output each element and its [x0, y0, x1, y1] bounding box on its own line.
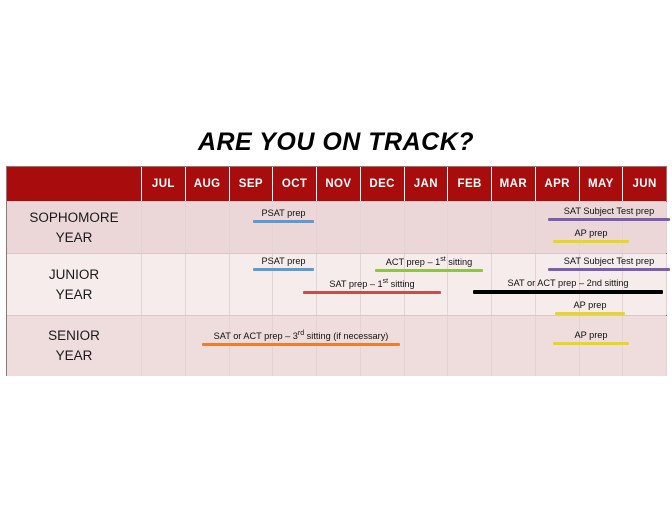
column-separator	[579, 316, 580, 376]
timeline-bar-line	[548, 218, 670, 221]
table-row-junior: JUNIOR YEAR PSAT prepACT prep – 1st sitt…	[7, 253, 666, 315]
year-label-sophomore: SOPHOMORE YEAR	[7, 202, 141, 253]
timeline-bar-label: AP prep	[573, 300, 606, 310]
column-separator	[491, 316, 492, 376]
timeline-bar: SAT prep – 1st sitting	[303, 278, 441, 294]
month-header-sep: SEP	[229, 167, 273, 201]
year-label-line1: JUNIOR	[49, 265, 99, 285]
page-root: ARE YOU ON TRACK? JULAUGSEPOCTNOVDECJANF…	[0, 0, 672, 510]
column-separator	[535, 316, 536, 376]
timeline-bar-label: PSAT prep	[261, 208, 305, 218]
timeline-bar-line	[553, 342, 629, 345]
timeline-bar: PSAT prep	[253, 256, 314, 271]
timeline-bar: AP prep	[553, 330, 629, 345]
month-header-aug: AUG	[185, 167, 229, 201]
timeline-bar: AP prep	[555, 300, 625, 315]
column-separator	[622, 316, 623, 376]
column-separator	[404, 316, 405, 376]
column-separator	[447, 202, 448, 253]
column-separator	[141, 316, 142, 376]
timeline-bar-line	[253, 268, 314, 271]
column-separator	[185, 202, 186, 253]
timeline-bar-label: SAT prep – 1st sitting	[329, 278, 414, 289]
timeline-bar: SAT or ACT prep – 3rd sitting (if necess…	[202, 330, 400, 346]
year-label-line2: YEAR	[56, 228, 93, 248]
year-label-senior: SENIOR YEAR	[7, 316, 141, 376]
month-header-feb: FEB	[447, 167, 491, 201]
timeline-bar-label: PSAT prep	[261, 256, 305, 266]
timeline-bar-label: AP prep	[574, 228, 607, 238]
timeline-bar: SAT Subject Test prep	[548, 256, 670, 271]
timeline-bar: SAT or ACT prep – 2nd sitting	[473, 278, 663, 294]
month-header-apr: APR	[535, 167, 579, 201]
column-separator	[141, 202, 142, 253]
column-separator	[229, 254, 230, 315]
timeline-bar: AP prep	[553, 228, 629, 243]
month-header-nov: NOV	[316, 167, 360, 201]
table-row-sophomore: SOPHOMORE YEAR PSAT prepSAT Subject Test…	[7, 201, 666, 253]
column-separator	[404, 202, 405, 253]
month-header-mar: MAR	[491, 167, 535, 201]
year-label-line2: YEAR	[56, 346, 93, 366]
timeline-bar-line	[303, 291, 441, 294]
timeline-table: JULAUGSEPOCTNOVDECJANFEBMARAPRMAYJUN SOP…	[6, 166, 667, 376]
column-separator	[229, 202, 230, 253]
timeline-bar-line	[202, 343, 400, 346]
timeline-bar-line	[253, 220, 314, 223]
column-separator	[360, 202, 361, 253]
column-separator	[185, 254, 186, 315]
table-header-row: JULAUGSEPOCTNOVDECJANFEBMARAPRMAYJUN	[7, 167, 666, 201]
timeline-bar-label: AP prep	[574, 330, 607, 340]
month-header-jul: JUL	[141, 167, 185, 201]
timeline-bar-line	[548, 268, 670, 271]
header-corner-cell	[7, 167, 141, 201]
column-separator	[666, 316, 667, 376]
column-separator	[141, 254, 142, 315]
timeline-bar-label: SAT Subject Test prep	[564, 256, 654, 266]
timeline-bar-label: SAT or ACT prep – 2nd sitting	[507, 278, 628, 288]
year-label-line1: SENIOR	[48, 326, 100, 346]
year-label-line2: YEAR	[56, 285, 93, 305]
month-header-may: MAY	[579, 167, 623, 201]
timeline-bar-label: SAT Subject Test prep	[564, 206, 654, 216]
timeline-bar: ACT prep – 1st sitting	[375, 256, 483, 272]
timeline-bar-label: ACT prep – 1st sitting	[386, 256, 473, 267]
month-header-dec: DEC	[360, 167, 404, 201]
column-separator	[447, 316, 448, 376]
timeline-bar-line	[473, 290, 663, 294]
column-separator	[185, 316, 186, 376]
timeline-bar: SAT Subject Test prep	[548, 206, 670, 221]
timeline-bar: PSAT prep	[253, 208, 314, 223]
table-row-senior: SENIOR YEAR SAT or ACT prep – 3rd sittin…	[7, 315, 666, 376]
timeline-bar-label: SAT or ACT prep – 3rd sitting (if necess…	[214, 330, 389, 341]
year-label-junior: JUNIOR YEAR	[7, 254, 141, 315]
month-header-jun: JUN	[622, 167, 666, 201]
timeline-bar-line	[553, 240, 629, 243]
year-label-line1: SOPHOMORE	[29, 208, 118, 228]
month-header-jan: JAN	[404, 167, 448, 201]
timeline-bar-line	[375, 269, 483, 272]
column-separator	[316, 202, 317, 253]
month-header-oct: OCT	[272, 167, 316, 201]
page-title: ARE YOU ON TRACK?	[0, 128, 672, 157]
column-separator	[491, 202, 492, 253]
column-separator	[535, 202, 536, 253]
